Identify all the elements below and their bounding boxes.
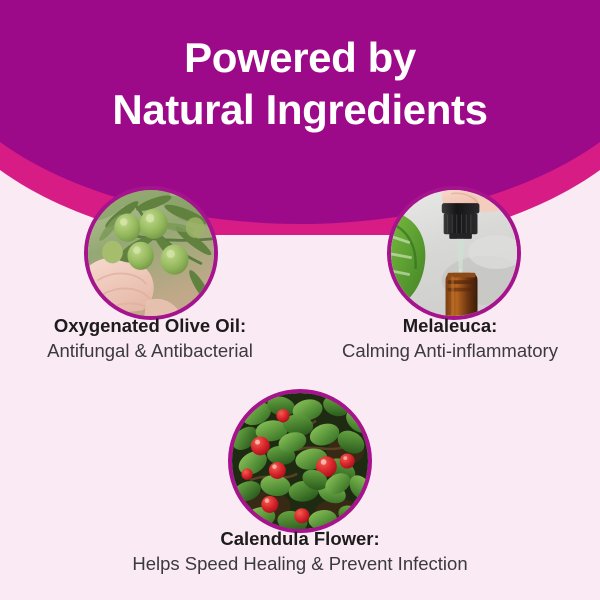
olive-photo [88,190,214,316]
ingredient-caption-calendula: Calendula Flower: Helps Speed Healing & … [0,527,600,577]
melaleuca-photo [391,190,517,316]
ingredient-name-melaleuca: Melaleuca: [300,314,600,338]
olive-photo-art [88,190,214,316]
ingredients-infographic: Powered by Natural Ingredients [0,0,600,600]
calendula-photo [232,393,368,529]
amber-bottle [446,273,478,316]
page-title: Powered by Natural Ingredients [0,0,600,136]
ingredient-image-melaleuca [387,186,521,320]
ingredient-caption-olive: Oxygenated Olive Oil: Antifungal & Antib… [0,314,300,364]
calendula-photo-art [232,393,368,529]
ingredient-desc-melaleuca: Calming Anti-inflammatory [300,338,600,364]
ingredient-image-calendula [228,389,372,533]
ingredient-desc-calendula: Helps Speed Healing & Prevent Infection [0,551,600,577]
page-title-line-2: Natural Ingredients [0,84,600,136]
ingredient-name-olive: Oxygenated Olive Oil: [0,314,300,338]
melaleuca-photo-art [391,190,517,316]
ingredient-desc-olive: Antifungal & Antibacterial [0,338,300,364]
ingredient-caption-melaleuca: Melaleuca: Calming Anti-inflammatory [300,314,600,364]
dropper-cap [442,203,480,239]
page-title-line-1: Powered by [0,32,600,84]
ingredient-name-calendula: Calendula Flower: [0,527,600,551]
ingredient-image-olive [84,186,218,320]
